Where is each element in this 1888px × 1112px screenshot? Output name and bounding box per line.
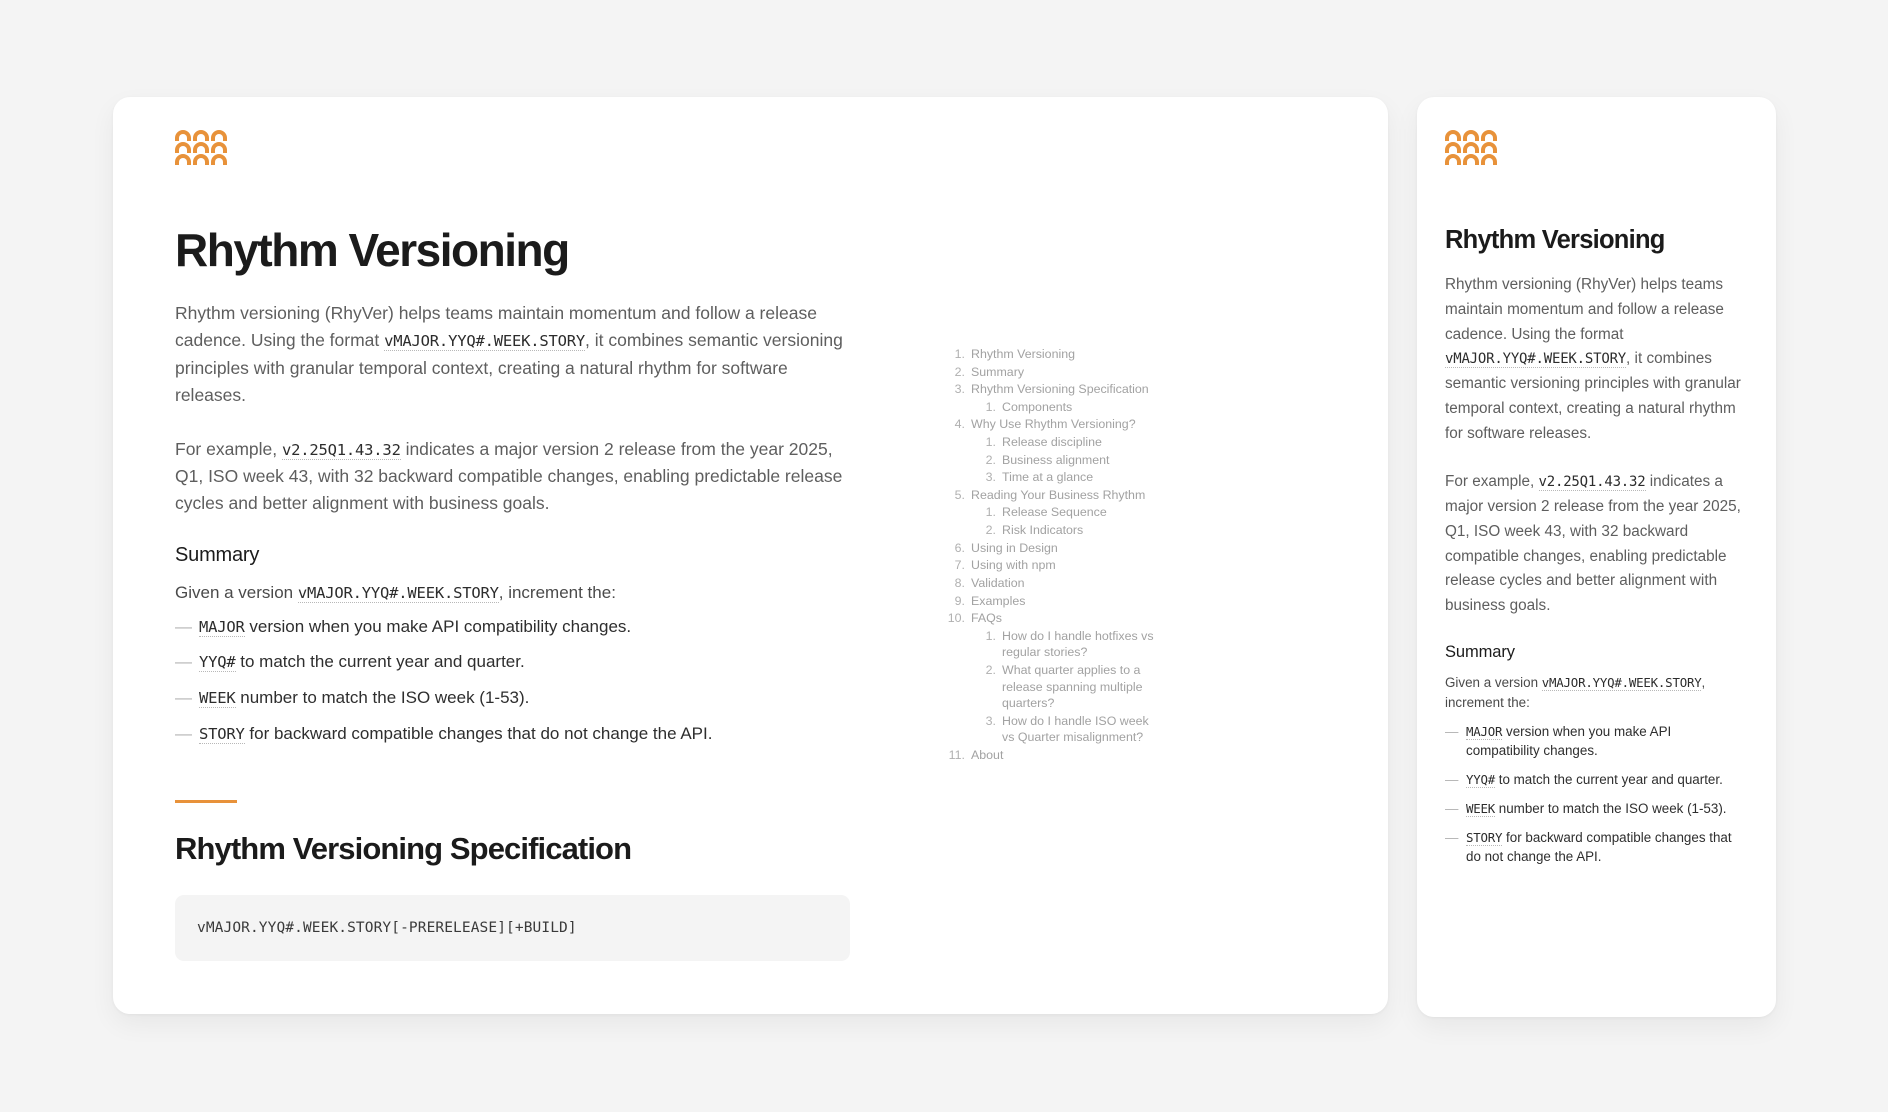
summary-lead-before: Given a version [175, 583, 298, 602]
toc-sublist: Release Sequence Risk Indicators [971, 504, 1161, 538]
mobile-summary-lead-before: Given a version [1445, 675, 1542, 690]
version-format-code: vMAJOR.YYQ#.WEEK.STORY [384, 332, 585, 351]
spec-code-block: vMAJOR.YYQ#.WEEK.STORY[-PRERELEASE][+BUI… [175, 895, 850, 961]
toc-item-release-sequence[interactable]: Release Sequence [971, 504, 1161, 521]
dash-bullet-icon: — [1445, 722, 1458, 741]
logo-arc [1481, 130, 1497, 141]
toc-item-faq-quarter-spanning[interactable]: What quarter applies to a release spanni… [971, 662, 1161, 712]
toc-label: Release discipline [1002, 435, 1102, 449]
logo-arc [1445, 154, 1461, 165]
toc-item-summary[interactable]: Summary [941, 364, 1161, 381]
list-item-code: STORY [1466, 830, 1502, 846]
list-item: —STORY for backward compatible changes t… [1445, 828, 1748, 866]
intro-paragraph: Rhythm versioning (RhyVer) helps teams m… [175, 300, 850, 409]
dash-bullet-icon: — [175, 722, 192, 747]
toc-label: Business alignment [1002, 453, 1109, 467]
summary-lead-after: , increment the: [499, 583, 616, 602]
toc-label: Validation [971, 576, 1025, 590]
toc-label: Risk Indicators [1002, 523, 1083, 537]
page-title: Rhythm Versioning [175, 226, 850, 274]
toc-label: Using with npm [971, 558, 1056, 572]
list-item: —WEEK number to match the ISO week (1-53… [1445, 799, 1748, 818]
desktop-preview-card: Rhythm Versioning Rhythm versioning (Rhy… [113, 97, 1388, 1014]
toc-item-risk-indicators[interactable]: Risk Indicators [971, 522, 1161, 539]
toc-item-components[interactable]: Components [971, 399, 1161, 416]
list-item: —STORY for backward compatible changes t… [175, 722, 850, 747]
mobile-summary-heading: Summary [1445, 643, 1748, 662]
list-item-code: YYQ# [1466, 772, 1495, 788]
list-item-code: MAJOR [1466, 724, 1502, 740]
toc-sublist: Components [971, 399, 1161, 416]
toc-label: Examples [971, 594, 1025, 608]
spec-code-text: vMAJOR.YYQ#.WEEK.STORY[-PRERELEASE][+BUI… [197, 920, 577, 936]
list-item-text: to match the current year and quarter. [236, 652, 525, 671]
dash-bullet-icon: — [1445, 828, 1458, 847]
toc-item-examples[interactable]: Examples [941, 593, 1161, 610]
list-item-text: to match the current year and quarter. [1495, 772, 1723, 787]
mobile-preview-card: Rhythm Versioning Rhythm versioning (Rhy… [1417, 97, 1776, 1017]
toc-item-release-discipline[interactable]: Release discipline [971, 434, 1161, 451]
list-item-text: for backward compatible changes that do … [1466, 830, 1732, 864]
toc-item-business-alignment[interactable]: Business alignment [971, 452, 1161, 469]
list-item-code: YYQ# [199, 653, 236, 672]
toc-item-reading-rhythm[interactable]: Reading Your Business Rhythm Release Seq… [941, 487, 1161, 539]
toc-item-specification[interactable]: Rhythm Versioning Specification Componen… [941, 381, 1161, 415]
example-text-before: For example, [175, 439, 282, 459]
toc-item-faq-iso-misalignment[interactable]: How do I handle ISO week vs Quarter misa… [971, 713, 1161, 746]
logo-arc [1481, 154, 1497, 165]
logo-arc [1445, 142, 1461, 153]
summary-lead: Given a version vMAJOR.YYQ#.WEEK.STORY, … [175, 580, 850, 606]
toc-list: Rhythm Versioning Summary Rhythm Version… [941, 346, 1161, 764]
mobile-intro-paragraph: Rhythm versioning (RhyVer) helps teams m… [1445, 273, 1748, 446]
toc-item-why-use[interactable]: Why Use Rhythm Versioning? Release disci… [941, 416, 1161, 485]
list-item: —YYQ# to match the current year and quar… [175, 650, 850, 675]
list-item-code: WEEK [1466, 801, 1495, 817]
mobile-summary-format-code: vMAJOR.YYQ#.WEEK.STORY [1542, 675, 1702, 691]
summary-list: —MAJOR version when you make API compati… [175, 615, 850, 747]
mobile-example-version-code: v2.25Q1.43.32 [1539, 474, 1646, 491]
logo-arc [1481, 142, 1497, 153]
summary-format-code: vMAJOR.YYQ#.WEEK.STORY [298, 584, 499, 603]
rhythm-waves-logo-icon-mobile[interactable] [1445, 130, 1497, 165]
toc-item-validation[interactable]: Validation [941, 575, 1161, 592]
toc-label: About [971, 748, 1003, 762]
dash-bullet-icon: — [1445, 799, 1458, 818]
toc-label: How do I handle ISO week vs Quarter misa… [1002, 714, 1149, 745]
toc-label: Release Sequence [1002, 505, 1107, 519]
table-of-contents: Rhythm Versioning Summary Rhythm Version… [941, 226, 1161, 961]
page-stage: Rhythm Versioning Rhythm versioning (Rhy… [0, 0, 1888, 1112]
example-paragraph: For example, v2.25Q1.43.32 indicates a m… [175, 436, 850, 517]
toc-label: Summary [971, 365, 1024, 379]
mobile-intro-text-before: Rhythm versioning (RhyVer) helps teams m… [1445, 276, 1724, 343]
mobile-page-title: Rhythm Versioning [1445, 226, 1748, 254]
mobile-summary-lead: Given a version vMAJOR.YYQ#.WEEK.STORY, … [1445, 673, 1748, 712]
example-version-code: v2.25Q1.43.32 [282, 441, 401, 460]
toc-label: Components [1002, 400, 1072, 414]
list-item-text: for backward compatible changes that do … [245, 724, 713, 743]
toc-item-faqs[interactable]: FAQs How do I handle hotfixes vs regular… [941, 610, 1161, 746]
list-item-text: version when you make API compatibility … [245, 617, 631, 636]
article-column: Rhythm Versioning Rhythm versioning (Rhy… [175, 226, 850, 961]
dash-bullet-icon: — [1445, 770, 1458, 789]
toc-label: Rhythm Versioning [971, 347, 1075, 361]
list-item-text: number to match the ISO week (1-53). [1495, 801, 1726, 816]
toc-item-faq-hotfixes[interactable]: How do I handle hotfixes vs regular stor… [971, 628, 1161, 661]
list-item-code: STORY [199, 725, 245, 744]
toc-label: Why Use Rhythm Versioning? [971, 417, 1136, 431]
toc-label: FAQs [971, 611, 1002, 625]
toc-item-rhythm-versioning[interactable]: Rhythm Versioning [941, 346, 1161, 363]
mobile-summary-list: —MAJOR version when you make API compati… [1445, 722, 1748, 866]
list-item: —YYQ# to match the current year and quar… [1445, 770, 1748, 789]
toc-item-time-at-a-glance[interactable]: Time at a glance [971, 469, 1161, 486]
summary-heading: Summary [175, 544, 850, 567]
section-divider [175, 800, 237, 803]
toc-label: How do I handle hotfixes vs regular stor… [1002, 629, 1154, 660]
list-item: —MAJOR version when you make API compati… [1445, 722, 1748, 760]
toc-item-about[interactable]: About [941, 747, 1161, 764]
list-item-text: number to match the ISO week (1-53). [236, 688, 530, 707]
toc-label: Using in Design [971, 541, 1058, 555]
logo-arc [1463, 130, 1479, 141]
toc-item-using-in-design[interactable]: Using in Design [941, 540, 1161, 557]
list-item-code: WEEK [199, 689, 236, 708]
dash-bullet-icon: — [175, 650, 192, 675]
logo-arc [1445, 130, 1461, 141]
dash-bullet-icon: — [175, 615, 192, 640]
logo-arc [1463, 142, 1479, 153]
desktop-content: Rhythm Versioning Rhythm versioning (Rhy… [113, 97, 1388, 961]
mobile-example-text-before: For example, [1445, 473, 1539, 490]
list-item: —WEEK number to match the ISO week (1-53… [175, 686, 850, 711]
mobile-example-paragraph: For example, v2.25Q1.43.32 indicates a m… [1445, 470, 1748, 619]
mobile-version-format-code: vMAJOR.YYQ#.WEEK.STORY [1445, 351, 1626, 368]
logo-arc [1463, 154, 1479, 165]
list-item-code: MAJOR [199, 618, 245, 637]
list-item: —MAJOR version when you make API compati… [175, 615, 850, 640]
toc-sublist: How do I handle hotfixes vs regular stor… [971, 628, 1161, 746]
toc-item-using-with-npm[interactable]: Using with npm [941, 557, 1161, 574]
toc-label: What quarter applies to a release spanni… [1002, 663, 1143, 710]
mobile-example-text-after: indicates a major version 2 release from… [1445, 473, 1741, 614]
dash-bullet-icon: — [175, 686, 192, 711]
spec-heading: Rhythm Versioning Specification [175, 831, 850, 867]
toc-label: Rhythm Versioning Specification [971, 382, 1149, 396]
toc-label: Time at a glance [1002, 470, 1093, 484]
toc-label: Reading Your Business Rhythm [971, 488, 1145, 502]
toc-sublist: Release discipline Business alignment Ti… [971, 434, 1161, 486]
mobile-content: Rhythm Versioning Rhythm versioning (Rhy… [1417, 97, 1776, 866]
